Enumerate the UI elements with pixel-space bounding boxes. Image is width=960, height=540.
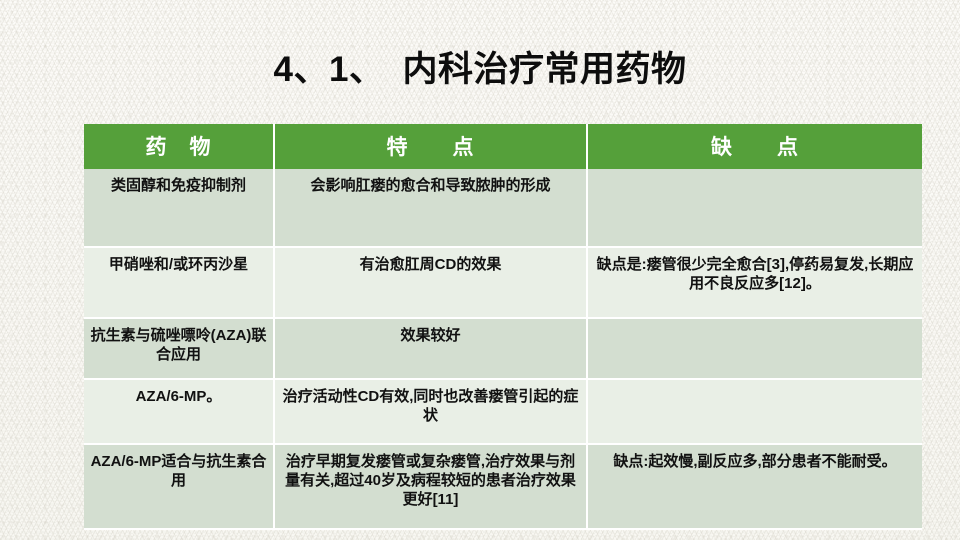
medication-table: 药 物 特 点 缺 点 类固醇和免疫抑制剂 会影响肛瘘的愈合和导致脓肿的形成 甲…: [84, 124, 922, 530]
table-row: 甲硝唑和/或环丙沙星 有治愈肛周CD的效果 缺点是:瘘管很少完全愈合[3],停药…: [84, 248, 922, 319]
cell-feature: 治疗活动性CD有效,同时也改善瘘管引起的症状: [275, 380, 588, 445]
table-row: 类固醇和免疫抑制剂 会影响肛瘘的愈合和导致脓肿的形成: [84, 169, 922, 248]
cell-drawback: [588, 319, 922, 380]
cell-feature: 效果较好: [275, 319, 588, 380]
cell-feature: 治疗早期复发瘘管或复杂瘘管,治疗效果与剂量有关,超过40岁及病程较短的患者治疗效…: [275, 445, 588, 530]
cell-drawback: [588, 380, 922, 445]
table-header: 药 物 特 点 缺 点: [84, 124, 922, 169]
table-body: 类固醇和免疫抑制剂 会影响肛瘘的愈合和导致脓肿的形成 甲硝唑和/或环丙沙星 有治…: [84, 169, 922, 530]
cell-drawback: 缺点是:瘘管很少完全愈合[3],停药易复发,长期应用不良反应多[12]。: [588, 248, 922, 319]
slide-canvas: 4、1、 内科治疗常用药物 药 物 特 点 缺 点 类固醇和免疫抑制剂 会影响肛…: [0, 0, 960, 540]
cell-drawback: 缺点:起效慢,副反应多,部分患者不能耐受。: [588, 445, 922, 530]
cell-drug: 类固醇和免疫抑制剂: [84, 169, 275, 248]
table-row: AZA/6-MP适合与抗生素合用 治疗早期复发瘘管或复杂瘘管,治疗效果与剂量有关…: [84, 445, 922, 530]
cell-drawback: [588, 169, 922, 248]
table-row: AZA/6-MP。 治疗活动性CD有效,同时也改善瘘管引起的症状: [84, 380, 922, 445]
table-header-row: 药 物 特 点 缺 点: [84, 124, 922, 169]
column-header-drawback: 缺 点: [588, 124, 922, 169]
table-row: 抗生素与硫唑嘌呤(AZA)联合应用 效果较好: [84, 319, 922, 380]
cell-feature: 会影响肛瘘的愈合和导致脓肿的形成: [275, 169, 588, 248]
cell-drug: 抗生素与硫唑嘌呤(AZA)联合应用: [84, 319, 275, 380]
column-header-feature: 特 点: [275, 124, 588, 169]
column-header-drug: 药 物: [84, 124, 275, 169]
cell-drug: AZA/6-MP。: [84, 380, 275, 445]
page-title: 4、1、 内科治疗常用药物: [0, 50, 960, 90]
cell-drug: AZA/6-MP适合与抗生素合用: [84, 445, 275, 530]
cell-drug: 甲硝唑和/或环丙沙星: [84, 248, 275, 319]
cell-feature: 有治愈肛周CD的效果: [275, 248, 588, 319]
